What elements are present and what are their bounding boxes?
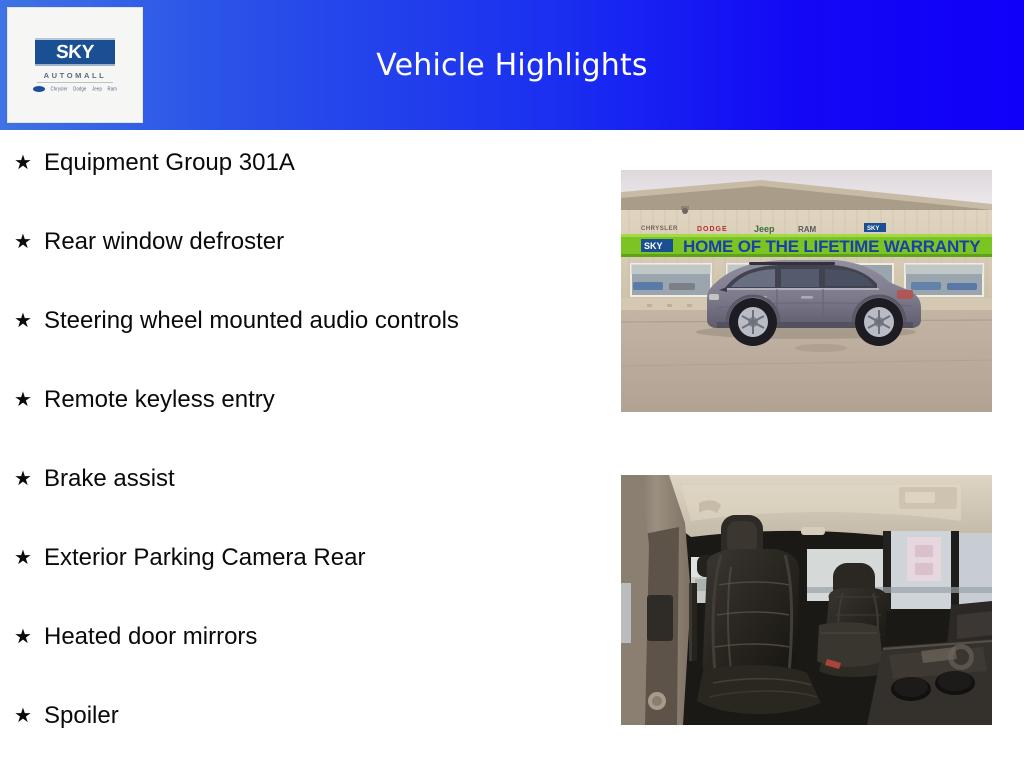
star-bullet-icon: ★ xyxy=(14,543,44,572)
feature-label: Equipment Group 301A xyxy=(44,148,295,177)
feature-label: Spoiler xyxy=(44,701,119,730)
svg-text:SKY: SKY xyxy=(867,226,879,232)
ram-mark-icon: Ram xyxy=(108,86,117,92)
logo-subtitle: AUTOMALL xyxy=(44,71,107,80)
list-item: ★ Remote keyless entry xyxy=(0,385,600,464)
center-console xyxy=(867,639,992,725)
feature-label: Remote keyless entry xyxy=(44,385,275,414)
logo-brand-strip: Chrysler Dodge Jeep Ram xyxy=(33,86,117,92)
dealership-exterior-photo: CHRYSLER DODGE Jeep RAM SKY SKY HOME OF … xyxy=(621,170,992,412)
jeep-mark-icon: Jeep xyxy=(92,86,102,92)
svg-text:Jeep: Jeep xyxy=(754,224,775,234)
svg-text:HOME OF THE LIFETIME WARRANTY: HOME OF THE LIFETIME WARRANTY xyxy=(683,237,981,256)
svg-text:CHRYSLER: CHRYSLER xyxy=(641,226,678,232)
vehicle-interior-photo xyxy=(621,475,992,725)
list-item: ★ Exterior Parking Camera Rear xyxy=(0,543,600,622)
logo-brand-text: SKY xyxy=(56,43,95,62)
star-bullet-icon: ★ xyxy=(14,306,44,335)
feature-label: Steering wheel mounted audio controls xyxy=(44,306,459,335)
feature-label: Exterior Parking Camera Rear xyxy=(44,543,365,572)
star-bullet-icon: ★ xyxy=(14,227,44,256)
feature-label: Rear window defroster xyxy=(44,227,284,256)
svg-text:SKY: SKY xyxy=(644,241,663,251)
logo-plate: SKY xyxy=(35,38,115,66)
vehicle-highlights-list: ★ Equipment Group 301A ★ Rear window def… xyxy=(0,130,600,768)
list-item: ★ Rear window defroster xyxy=(0,227,600,306)
logo-divider xyxy=(37,82,113,83)
list-item: ★ Equipment Group 301A xyxy=(0,148,600,227)
dodge-mark-icon: Dodge xyxy=(73,86,86,92)
star-bullet-icon: ★ xyxy=(14,622,44,651)
feature-label: Heated door mirrors xyxy=(44,622,257,651)
feature-label: Brake assist xyxy=(44,464,175,493)
star-bullet-icon: ★ xyxy=(14,148,44,177)
lifetime-warranty-banner: SKY HOME OF THE LIFETIME WARRANTY xyxy=(621,234,992,257)
chrysler-mark-icon: Chrysler xyxy=(51,86,68,92)
svg-text:RAM: RAM xyxy=(798,225,817,234)
dealer-logo: SKY AUTOMALL Chrysler Dodge Jeep Ram xyxy=(7,7,143,123)
star-bullet-icon: ★ xyxy=(14,385,44,414)
list-item: ★ Spoiler xyxy=(0,701,600,780)
list-item: ★ Steering wheel mounted audio controls xyxy=(0,306,600,385)
svg-text:DODGE: DODGE xyxy=(697,226,728,233)
list-item: ★ Brake assist xyxy=(0,464,600,543)
page-title: Vehicle Highlights xyxy=(0,0,1024,130)
page-header: Vehicle Highlights xyxy=(0,0,1024,130)
star-bullet-icon: ★ xyxy=(14,464,44,493)
star-bullet-icon: ★ xyxy=(14,701,44,730)
ford-oval-icon xyxy=(33,86,45,92)
list-item: ★ Heated door mirrors xyxy=(0,622,600,701)
